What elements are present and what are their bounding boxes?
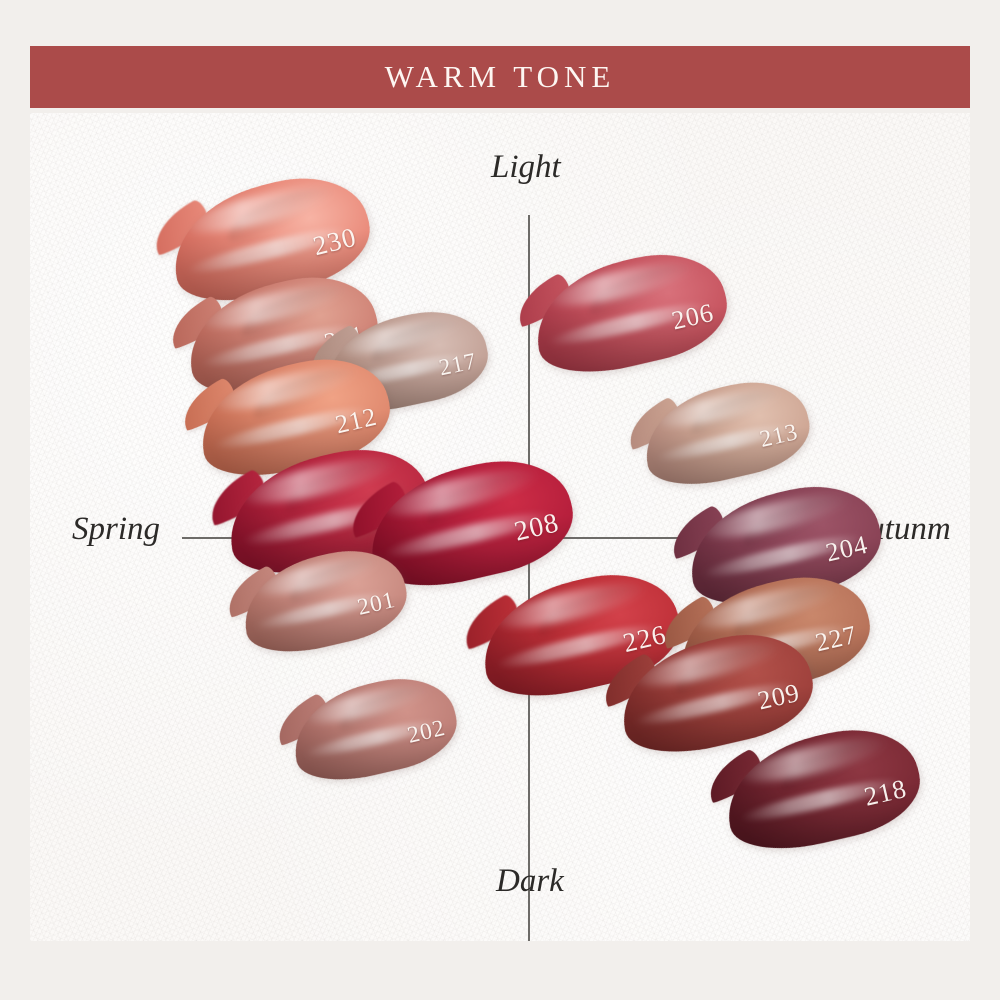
shade-chart-root: WARM TONE Light Dark Spring Autunm 23021…	[0, 0, 1000, 1000]
chart-panel: Light Dark Spring Autunm 230211217212206…	[30, 113, 970, 941]
swatch-shadow	[283, 666, 464, 791]
page-title: WARM TONE	[385, 59, 616, 95]
swatch-shadow	[524, 240, 737, 386]
swatch-shadow	[634, 370, 817, 496]
axis-label-dark: Dark	[496, 863, 564, 900]
axis-label-spring: Spring	[72, 511, 160, 548]
lipstick-swatch[interactable]: 206	[524, 240, 737, 386]
header-bar: WARM TONE	[30, 46, 970, 108]
swatch-blob	[283, 666, 464, 791]
axis-label-light: Light	[491, 149, 561, 186]
lipstick-swatch[interactable]: 202	[283, 666, 464, 791]
swatch-blob	[524, 240, 737, 386]
lipstick-swatch[interactable]: 213	[634, 370, 817, 496]
swatch-blob	[634, 370, 817, 496]
